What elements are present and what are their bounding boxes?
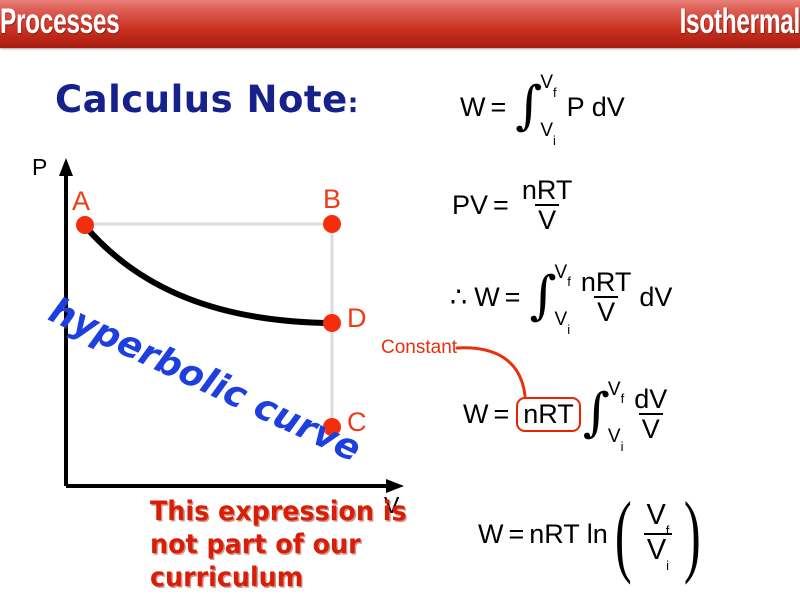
eq3-lower-limit: Vi xyxy=(555,310,571,332)
eq1-limits: Vf Vi xyxy=(540,86,556,130)
boxed-constant-term: nRT xyxy=(516,397,581,432)
eq4-upper-limit: Vf xyxy=(608,380,624,402)
eq2-denominator: V xyxy=(535,204,559,234)
eq1-upper-sub: f xyxy=(553,85,557,100)
eq3-numerator: nRT xyxy=(578,268,635,296)
header-banner: Processes Isothermal xyxy=(0,0,800,48)
eq5-numerator: Vf xyxy=(643,500,672,533)
page-title: Calculus Note: xyxy=(55,78,359,121)
eq5-equals: = xyxy=(508,519,524,550)
constant-annotation-label: Constant xyxy=(381,337,457,359)
eq1-lower-var: V xyxy=(540,120,553,141)
eq4-lower-limit: Vi xyxy=(608,427,624,449)
eq4-upper-sub: f xyxy=(621,391,625,406)
header-left-title: Processes xyxy=(0,2,119,42)
point-label-d: D xyxy=(347,305,367,332)
eq3-upper-sub: f xyxy=(567,274,571,289)
point-label-a: A xyxy=(72,188,90,215)
eq3-upper-var: V xyxy=(555,262,568,283)
eq1-integrand: P dV xyxy=(567,92,625,123)
eq4-lower-var: V xyxy=(608,426,621,447)
eq4-numerator: dV xyxy=(631,385,670,413)
eq5-num-var: V xyxy=(646,499,665,531)
equation-work-factored: W = nRT ∫ Vf Vi dV V xyxy=(463,385,675,444)
eq4-integral-group: ∫ Vf Vi xyxy=(583,393,624,437)
eq1-lhs: W xyxy=(460,92,485,123)
eq3-upper-limit: Vf xyxy=(555,263,571,285)
data-point-a xyxy=(76,216,94,234)
eq2-lhs: PV xyxy=(452,190,488,221)
eq3-fraction: nRT V xyxy=(578,268,635,327)
isotherm-curve xyxy=(85,226,332,323)
curriculum-warning-line2: not part of our xyxy=(150,528,432,561)
eq2-fraction: nRT V xyxy=(519,176,576,235)
integral-icon: ∫ xyxy=(583,398,610,429)
x-axis-arrowhead xyxy=(386,479,404,493)
eq5-close-paren: ) xyxy=(684,506,701,563)
eq4-denominator: V xyxy=(639,413,663,443)
eq1-equals: = xyxy=(490,92,506,123)
eq1-lower-limit: Vi xyxy=(540,121,556,143)
eq3-equals: = xyxy=(505,282,521,313)
eq4-lower-sub: i xyxy=(621,439,624,454)
data-point-d xyxy=(323,314,341,332)
eq1-integral-group: ∫ Vf Vi xyxy=(515,86,556,130)
eq5-den-sub: i xyxy=(666,558,669,573)
eq5-denominator: Vi xyxy=(644,533,672,568)
page-title-colon: : xyxy=(348,88,359,119)
eq2-equals: = xyxy=(493,190,509,221)
eq3-denominator: V xyxy=(594,296,618,326)
eq1-lower-sub: i xyxy=(553,133,556,148)
eq4-lhs: W xyxy=(463,399,488,430)
point-label-b: B xyxy=(323,186,341,213)
curriculum-warning-line3: curriculum xyxy=(150,561,432,594)
eq3-lhs: W xyxy=(474,282,499,313)
eq5-coefficient: nRT xyxy=(529,519,580,550)
slide-canvas: Processes Isothermal Calculus Note: P A … xyxy=(0,0,800,600)
y-axis-label: P xyxy=(32,154,47,181)
eq4-upper-var: V xyxy=(608,379,621,400)
eq1-upper-var: V xyxy=(540,72,553,93)
eq5-den-var: V xyxy=(647,534,666,566)
y-axis-arrowhead xyxy=(59,158,73,176)
equation-work-substituted: ∴ W = ∫ Vf Vi nRT V dV xyxy=(450,268,672,327)
eq1-upper-limit: Vf xyxy=(540,73,556,95)
equation-work-integral: W = ∫ Vf Vi P dV xyxy=(460,86,625,130)
equation-work-final: W = nRT ln ( Vf Vi ) xyxy=(478,500,708,569)
eq5-ln-function: ln xyxy=(587,519,608,550)
equation-ideal-gas: PV = nRT V xyxy=(452,176,580,235)
eq3-therefore: ∴ xyxy=(450,282,467,313)
curriculum-warning: This expression is not part of our curri… xyxy=(150,495,432,594)
data-point-b xyxy=(323,215,341,233)
eq5-fraction: Vf Vi xyxy=(643,500,672,569)
eq3-lower-sub: i xyxy=(567,322,570,337)
eq5-lhs: W xyxy=(478,519,503,550)
eq5-num-sub: f xyxy=(666,523,670,538)
curriculum-warning-line1: This expression is xyxy=(150,495,432,528)
eq4-limits: Vf Vi xyxy=(608,393,624,437)
header-right-title: Isothermal xyxy=(680,2,800,42)
eq5-open-paren: ( xyxy=(615,506,632,563)
eq4-equals: = xyxy=(493,399,509,430)
eq3-differential: dV xyxy=(639,282,672,313)
eq2-numerator: nRT xyxy=(519,176,576,204)
eq3-lower-var: V xyxy=(555,309,568,330)
integral-icon: ∫ xyxy=(529,281,556,312)
integral-icon: ∫ xyxy=(515,91,542,122)
eq3-integral-group: ∫ Vf Vi xyxy=(529,276,570,320)
eq4-fraction: dV V xyxy=(631,385,670,444)
eq3-limits: Vf Vi xyxy=(555,276,571,320)
page-title-text: Calculus Note xyxy=(55,78,348,121)
